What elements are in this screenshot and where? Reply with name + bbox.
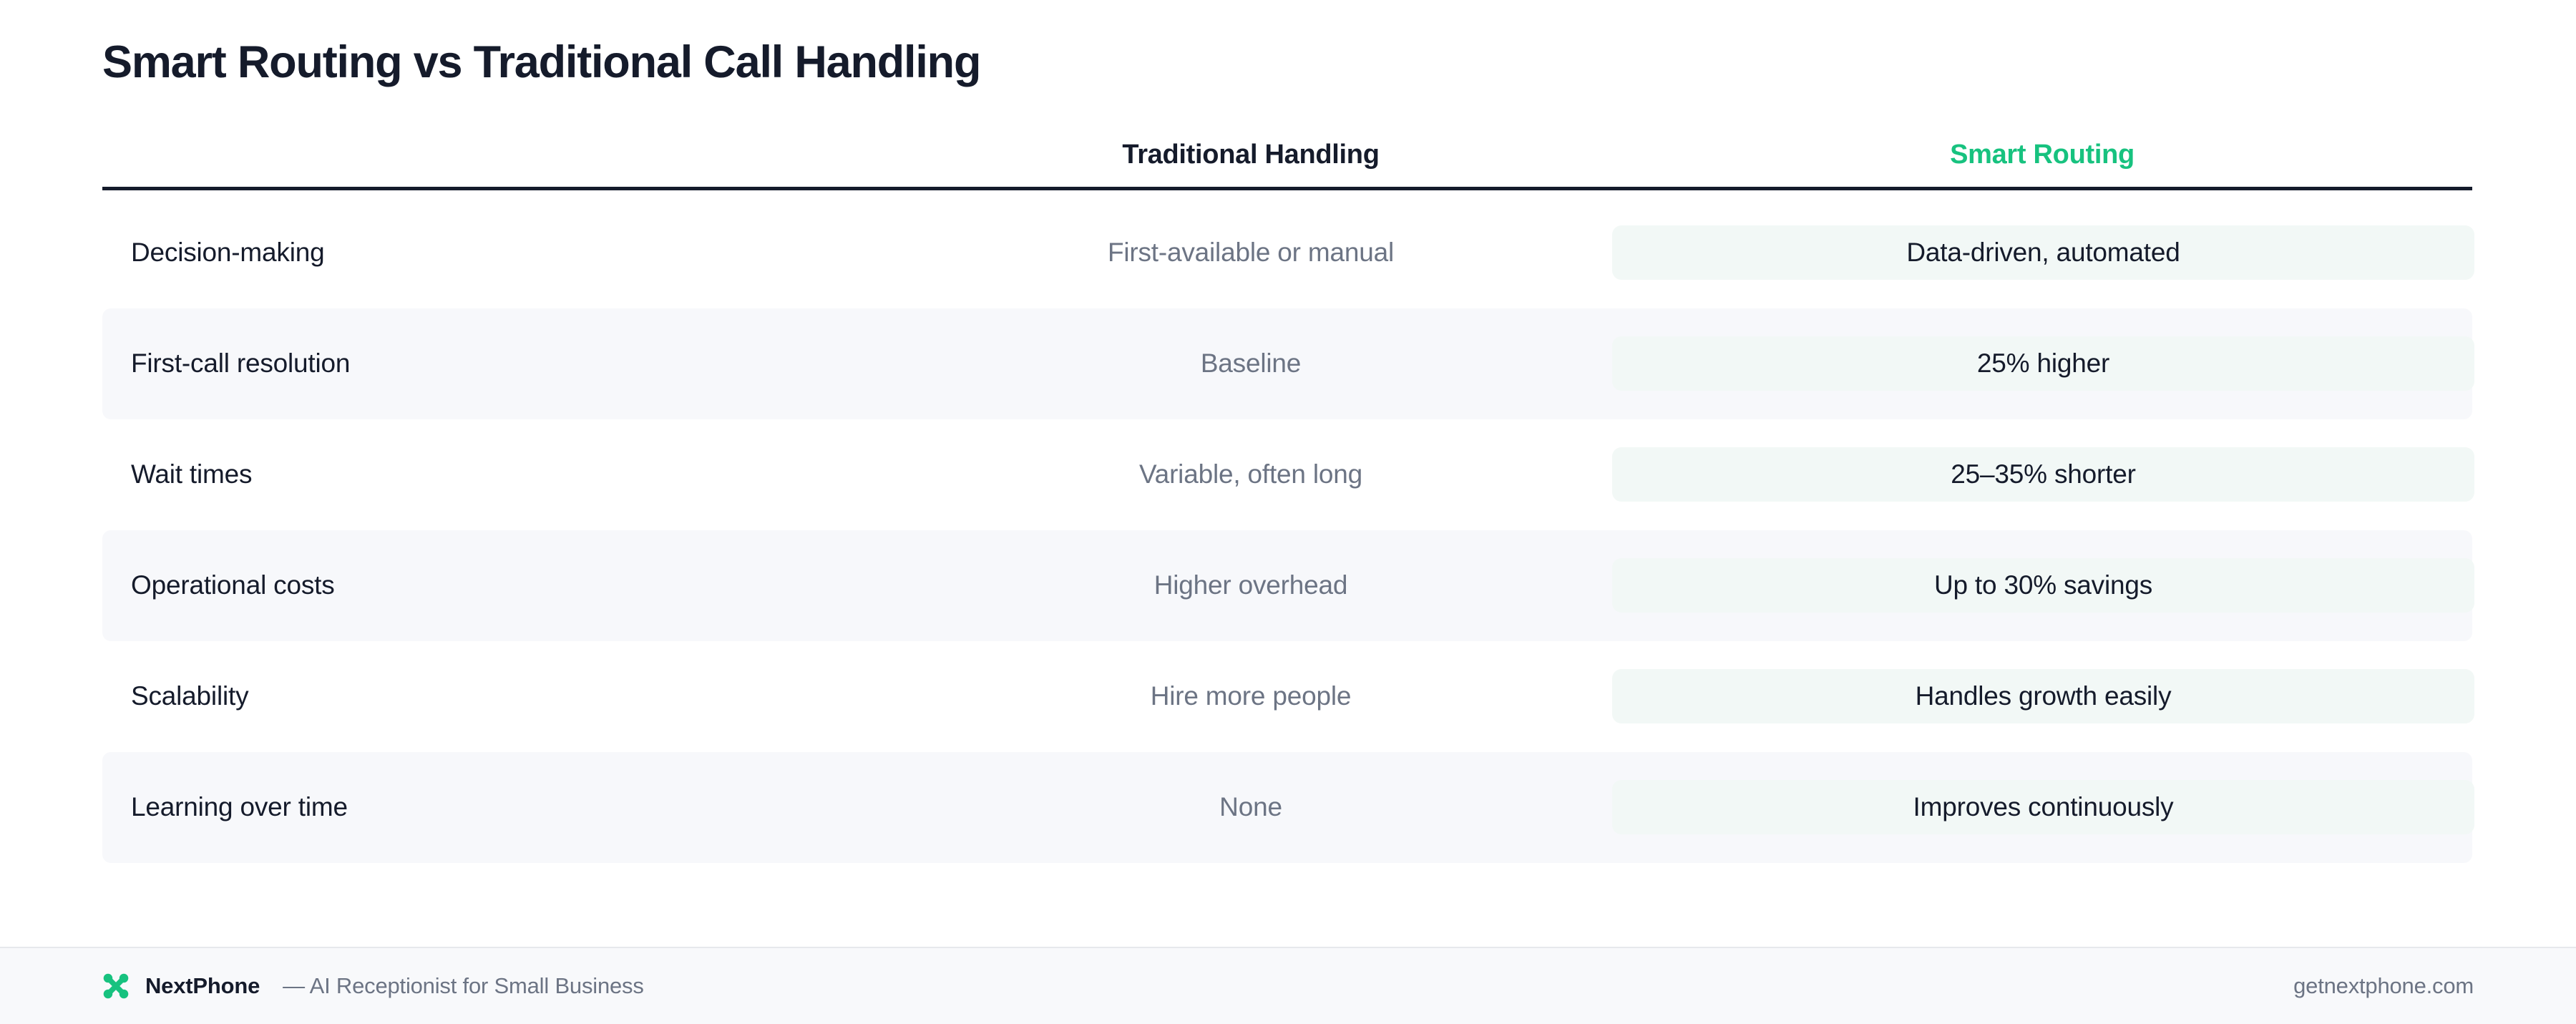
footer-bar: NextPhone — AI Receptionist for Small Bu… [0,947,2576,1024]
cell-smart-wrap: 25% higher [1612,336,2474,391]
cell-feature: Scalability [102,681,889,711]
footer-tagline: — AI Receptionist for Small Business [283,973,644,999]
table-row: Wait times Variable, often long 25–35% s… [102,419,2472,530]
cell-smart-pill: Improves continuously [1612,780,2474,834]
table-row: Decision-making First-available or manua… [102,198,2472,308]
cell-feature: Operational costs [102,570,889,600]
cell-smart-wrap: Up to 30% savings [1612,558,2474,613]
cell-traditional: None [889,792,1612,822]
cell-smart-pill: 25% higher [1612,336,2474,391]
cell-smart-wrap: 25–35% shorter [1612,447,2474,502]
table-row: Learning over time None Improves continu… [102,752,2472,863]
footer-brand-name: NextPhone [145,973,260,999]
table-row: Operational costs Higher overhead Up to … [102,530,2472,641]
cell-smart-pill: Data-driven, automated [1612,225,2474,280]
cell-traditional: Hire more people [889,681,1612,711]
table-body: Decision-making First-available or manua… [102,198,2472,863]
header-cell-smart-routing: Smart Routing [1612,141,2472,171]
nextphone-four-petal-cross-icon [102,972,130,1000]
title-section: Smart Routing vs Traditional Call Handli… [0,0,2576,88]
header-cell-feature [102,168,889,171]
cell-feature: First-call resolution [102,348,889,379]
cell-traditional: Higher overhead [889,570,1612,600]
cell-traditional: First-available or manual [889,238,1612,268]
cell-feature: Wait times [102,459,889,489]
cell-smart-wrap: Handles growth easily [1612,669,2474,723]
cell-smart-wrap: Data-driven, automated [1612,225,2474,280]
table-row: Scalability Hire more people Handles gro… [102,641,2472,752]
table-header-row: Traditional Handling Smart Routing [102,118,2472,171]
cell-smart-pill: Up to 30% savings [1612,558,2474,613]
cell-traditional: Baseline [889,348,1612,379]
cell-feature: Learning over time [102,792,889,822]
header-divider-rule [102,187,2472,190]
cell-feature: Decision-making [102,238,889,268]
page-title: Smart Routing vs Traditional Call Handli… [102,37,2576,88]
cell-smart-pill: Handles growth easily [1612,669,2474,723]
cell-smart-wrap: Improves continuously [1612,780,2474,834]
comparison-table: Traditional Handling Smart Routing Decis… [0,118,2576,863]
layout-spacer [0,863,2576,947]
header-cell-traditional: Traditional Handling [889,141,1612,171]
table-row: First-call resolution Baseline 25% highe… [102,308,2472,419]
footer-website[interactable]: getnextphone.com [2293,973,2474,999]
comparison-infographic: Smart Routing vs Traditional Call Handli… [0,0,2576,1024]
cell-traditional: Variable, often long [889,459,1612,489]
footer-brand-group: NextPhone — AI Receptionist for Small Bu… [102,972,644,1000]
cell-smart-pill: 25–35% shorter [1612,447,2474,502]
